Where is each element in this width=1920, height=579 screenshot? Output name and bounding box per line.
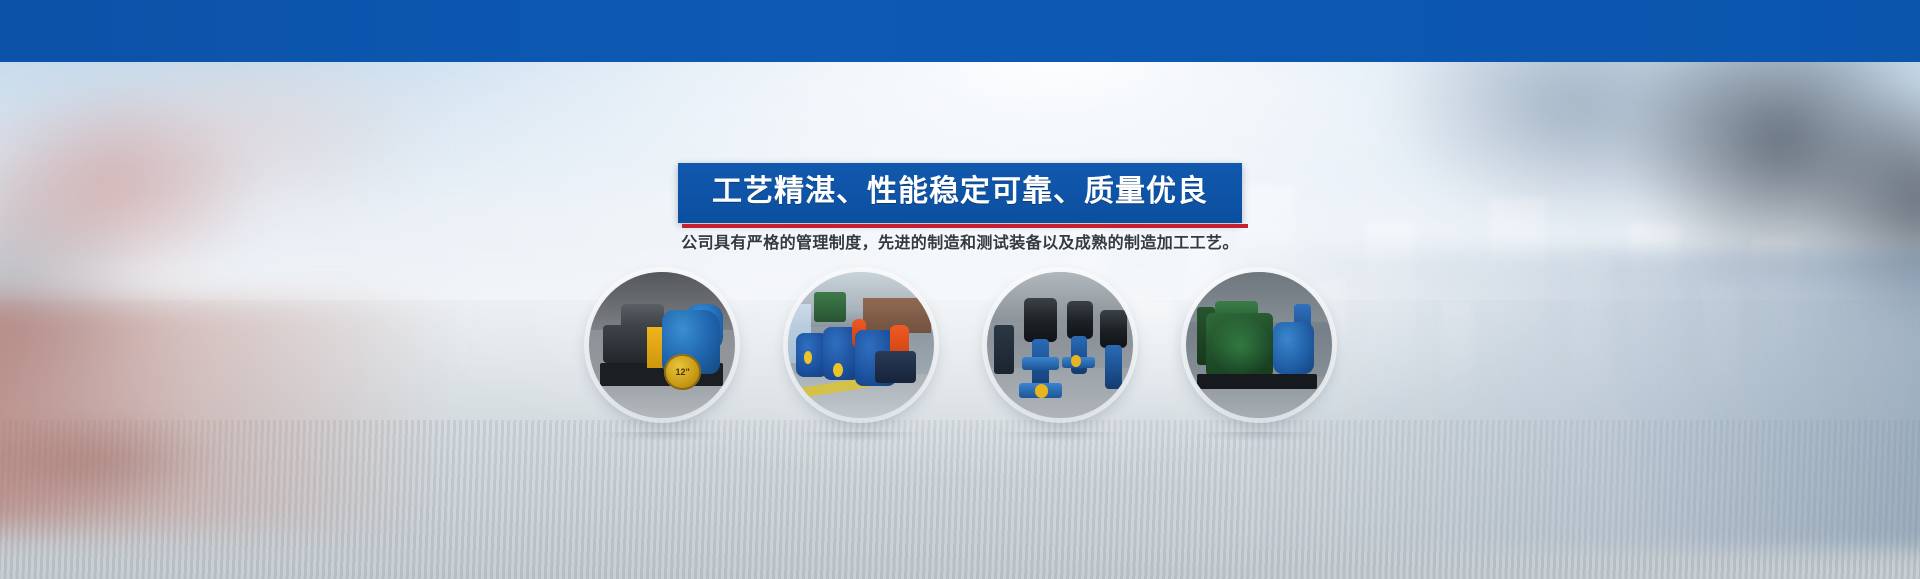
subtitle-text: 公司具有严格的管理制度，先进的制造和测试装备以及成熟的制造加工工艺。: [0, 229, 1920, 253]
top-navigation-inner: [0, 0, 1920, 62]
gallery-item-vertical-inline-pump-row[interactable]: [987, 272, 1133, 418]
title-banner: 工艺精湛、性能稳定可靠、质量优良: [678, 163, 1242, 223]
gallery-item-slurry-pump-row[interactable]: [788, 272, 934, 418]
gallery-item-diesel-engine-pump-set[interactable]: [1186, 272, 1332, 418]
photo-split-case-pump: 12": [589, 272, 735, 418]
gallery-item-split-case-pump[interactable]: 12": [589, 272, 735, 418]
top-navigation-bar[interactable]: [0, 0, 1920, 62]
title-banner-wrapper: 工艺精湛、性能稳定可靠、质量优良: [0, 163, 1920, 223]
pump-size-badge: 12": [664, 354, 701, 391]
pump-size-badge-label: 12": [664, 354, 701, 391]
title-banner-text: 工艺精湛、性能稳定可靠、质量优良: [712, 175, 1208, 210]
photo-slurry-pump-row: [788, 272, 934, 418]
photo-diesel-engine-pump-set: [1186, 272, 1332, 418]
hero-banner-page: 工艺精湛、性能稳定可靠、质量优良 公司具有严格的管理制度，先进的制造和测试装备以…: [0, 0, 1920, 579]
product-photo-gallery: 12": [0, 272, 1920, 452]
photo-vertical-inline-pump-row: [987, 272, 1133, 418]
